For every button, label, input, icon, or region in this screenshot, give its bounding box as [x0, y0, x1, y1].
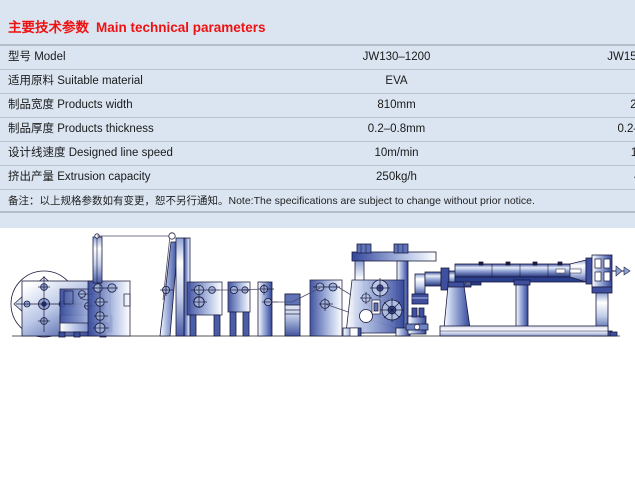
row-value-b: 400kg/h [492, 166, 635, 190]
row-label: 制品宽度 Products width [0, 94, 301, 118]
row-label: 设计线速度 Designed line speed [0, 142, 301, 166]
upper-tower [88, 234, 130, 336]
page-title: 主要技术参数Main technical parameters [8, 18, 266, 38]
row-label: 挤出产量 Extrusion capacity [0, 166, 301, 190]
row-value-a: 10m/min [301, 142, 492, 166]
row-value-b: 0.2–0.8mm [492, 118, 635, 142]
calender-frame [343, 244, 436, 336]
row-value-a: 0.2–0.8mm [301, 118, 492, 142]
row-value-b: 10m/min [492, 142, 635, 166]
footnote-divider [0, 211, 635, 213]
row-value-a: EVA [301, 70, 492, 94]
row-value-model-a: JW130–1200 [301, 45, 492, 70]
spec-table: 型号 Model JW130–1200 JW150–2400 适用原料 Suit… [0, 44, 635, 190]
center-roll-pair [285, 294, 300, 336]
table-row: 适用原料 Suitable material EVA EVA [0, 70, 635, 94]
row-value-model-b: JW150–2400 [492, 45, 635, 70]
table-row: 型号 Model JW130–1200 JW150–2400 [0, 45, 635, 70]
row-value-a: 810mm [301, 94, 492, 118]
row-value-b: 2200mm [492, 94, 635, 118]
footnote: 备注：以上规格参数如有变更，恕不另行通知。Note:The specificat… [0, 192, 635, 212]
row-value-b: EVA [492, 70, 635, 94]
drive-end [592, 255, 630, 336]
row-value-a: 250kg/h [301, 166, 492, 190]
machine-illustration [0, 228, 635, 500]
spec-panel: 主要技术参数Main technical parameters 型号 Model… [0, 0, 635, 228]
footnote-text: 备注：以上规格参数如有变更，恕不另行通知。Note:The specificat… [8, 192, 535, 210]
spec-table-wrap: 型号 Model JW130–1200 JW150–2400 适用原料 Suit… [0, 44, 635, 190]
barrel-supports [440, 280, 617, 336]
row-label: 适用原料 Suitable material [0, 70, 301, 94]
page-title-cn: 主要技术参数 [8, 20, 89, 35]
page-title-en: Main technical parameters [96, 20, 266, 35]
table-row: 设计线速度 Designed line speed 10m/min 10m/mi… [0, 142, 635, 166]
table-row: 制品宽度 Products width 810mm 2200mm [0, 94, 635, 118]
table-row: 制品厚度 Products thickness 0.2–0.8mm 0.2–0.… [0, 118, 635, 142]
table-row: 挤出产量 Extrusion capacity 250kg/h 400kg/h [0, 166, 635, 190]
pump-unit [406, 308, 428, 334]
production-line-drawing [0, 228, 635, 500]
row-label: 制品厚度 Products thickness [0, 118, 301, 142]
roller-stand-3 [258, 282, 278, 336]
row-label: 型号 Model [0, 45, 301, 70]
